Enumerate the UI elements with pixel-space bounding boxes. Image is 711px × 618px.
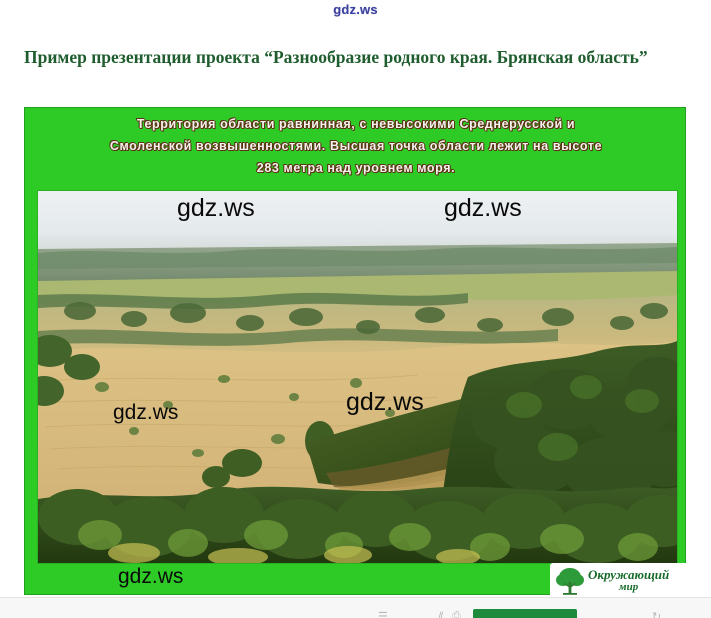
landscape-photo bbox=[38, 191, 677, 563]
watermark-photo-mid-left: gdz.ws bbox=[113, 401, 178, 425]
slide-caption-text: Территория области равнинная, с невысоки… bbox=[43, 113, 669, 179]
top-watermark: gdz.ws bbox=[0, 2, 711, 17]
tree-icon bbox=[554, 565, 586, 597]
watermark-photo-top-left: gdz.ws bbox=[177, 194, 255, 223]
watermark-photo-top-right: gdz.ws bbox=[444, 194, 522, 223]
landscape-illustration bbox=[38, 191, 677, 563]
watermark-slide-bottom: gdz.ws bbox=[118, 565, 183, 589]
logo-line-1: Окружающий bbox=[588, 569, 669, 581]
brand-logo: Окружающий мир bbox=[550, 563, 692, 599]
bottom-toolbar: ☰ ⟪ ⎙ ✎ ↻ bbox=[0, 597, 711, 618]
watermark-photo-mid-center: gdz.ws bbox=[346, 388, 424, 417]
presentation-slide: Территория области равнинная, с невысоки… bbox=[24, 107, 686, 595]
page-title: Пример презентации проекта “Разнообразие… bbox=[24, 46, 664, 69]
logo-line-2: мир bbox=[588, 581, 669, 593]
